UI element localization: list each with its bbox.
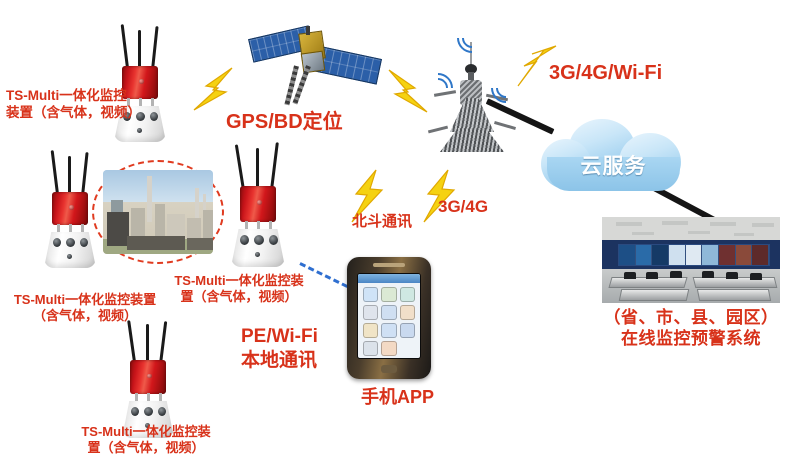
antenna-icon xyxy=(256,148,259,190)
video-wall xyxy=(618,244,770,267)
sensor-housing xyxy=(240,186,276,222)
diagram-canvas: 云服务 xyxy=(0,0,797,464)
app-icon[interactable] xyxy=(381,341,396,356)
label-device-mid-right: TS-Multi一体化监控装 置（含气体，视频） xyxy=(164,273,314,306)
antenna-icon xyxy=(68,156,71,196)
antenna-icon xyxy=(51,150,59,194)
speaker-grille xyxy=(373,263,405,267)
label-3g4g-wifi: 3G/4G/Wi-Fi xyxy=(549,61,729,86)
camera-port xyxy=(66,238,75,247)
label-device-bottom: TS-Multi一体化监控装 置（含气体，视频） xyxy=(62,424,230,457)
label-gps: GPS/BD定位 xyxy=(226,110,386,135)
label-platform: （省、市、县、园区） 在线监控预警系统 xyxy=(596,307,786,350)
app-icon[interactable] xyxy=(400,287,415,302)
antenna-icon xyxy=(151,26,159,70)
app-icon[interactable] xyxy=(381,287,396,302)
signal-wave-top-outer xyxy=(451,17,493,59)
industrial-plant-photo xyxy=(92,160,224,264)
sensor-housing xyxy=(130,360,166,394)
gas-sensor-port xyxy=(240,235,249,245)
antenna-icon xyxy=(270,142,279,190)
antenna-icon xyxy=(159,321,167,364)
control-room-photo xyxy=(602,217,780,303)
label-3g4g: 3G/4G xyxy=(438,196,528,217)
app-icon[interactable] xyxy=(400,323,415,338)
label-device-mid-left: TS-Multi一体化监控装置 （含气体，视频） xyxy=(4,292,166,325)
label-device-top-left: TS-Multi一体化监控 装置（含气体，视频） xyxy=(6,88,156,122)
gas-sensor-port xyxy=(53,238,61,247)
cloud-label: 云服务 xyxy=(541,150,686,180)
gas-sensor-port xyxy=(158,407,166,416)
camera-port xyxy=(254,235,264,245)
app-icon[interactable] xyxy=(400,305,415,320)
gas-sensor-port xyxy=(269,235,278,245)
label-phone-app: 手机APP xyxy=(361,386,481,409)
antenna-icon xyxy=(138,30,141,70)
cloud-service-icon: 云服务 xyxy=(541,117,686,199)
antenna-icon xyxy=(81,152,89,196)
antenna-icon xyxy=(127,320,136,362)
satellite-icon xyxy=(250,12,378,108)
app-icon[interactable] xyxy=(381,305,396,320)
cell-tower-icon xyxy=(424,28,520,156)
camera-port xyxy=(144,407,153,416)
label-local-comm: PE/Wi-Fi 本地通讯 xyxy=(241,325,371,373)
gas-sensor-port xyxy=(131,407,139,416)
status-bar xyxy=(358,274,420,283)
antenna-icon xyxy=(121,24,129,68)
app-icon[interactable] xyxy=(363,287,378,302)
gas-sensor-port xyxy=(80,238,88,247)
app-icon[interactable] xyxy=(381,323,396,338)
app-icon[interactable] xyxy=(363,305,378,320)
antenna-icon xyxy=(146,324,149,364)
home-button[interactable] xyxy=(381,365,397,373)
sensor-housing xyxy=(52,192,88,225)
antenna-icon xyxy=(235,144,245,190)
